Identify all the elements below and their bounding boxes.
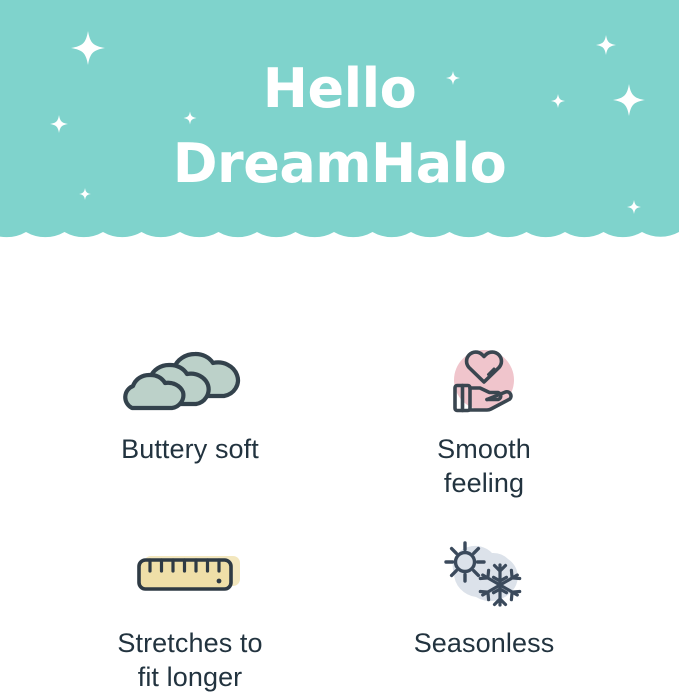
feature-item-seasonless: Seasonless	[338, 530, 630, 660]
sparkle-star-icon	[551, 94, 565, 108]
sparkle-star-icon	[596, 35, 616, 55]
feature-label: Seasonless	[338, 626, 630, 660]
sparkle-star-icon	[184, 112, 197, 125]
ruler-icon	[130, 544, 250, 600]
sparkle-star-icon	[79, 188, 91, 200]
feature-item-stretches: Stretches to fit longer	[44, 530, 336, 694]
sparkle-star-icon	[613, 84, 645, 116]
ruler-dot	[217, 579, 222, 584]
sparkle-decorations	[0, 0, 679, 268]
feature-label: Stretches to fit longer	[44, 626, 336, 694]
sun-snowflake-icon	[432, 535, 536, 609]
feature-item-buttery-soft: Buttery soft	[44, 336, 336, 466]
cloud-icon	[116, 338, 264, 418]
sparkle-star-icon	[446, 71, 460, 85]
feature-icon-wrapper	[44, 530, 336, 614]
hero-banner: Hello DreamHalo	[0, 0, 679, 268]
feature-icon-wrapper	[338, 530, 630, 614]
feature-item-smooth-feeling: Smooth feeling	[338, 336, 630, 500]
feature-grid: Buttery soft Smooth feeling	[0, 268, 679, 676]
sparkle-star-icon	[50, 115, 68, 133]
feature-label: Smooth feeling	[338, 432, 630, 500]
sparkle-star-icon	[71, 31, 105, 65]
sparkle-star-icon	[627, 200, 641, 214]
feature-label: Buttery soft	[44, 432, 336, 466]
ruler-ticks	[150, 560, 219, 571]
feature-icon-wrapper	[338, 336, 630, 420]
feature-icon-wrapper	[44, 336, 336, 420]
hand-holding-heart-icon	[436, 338, 532, 418]
